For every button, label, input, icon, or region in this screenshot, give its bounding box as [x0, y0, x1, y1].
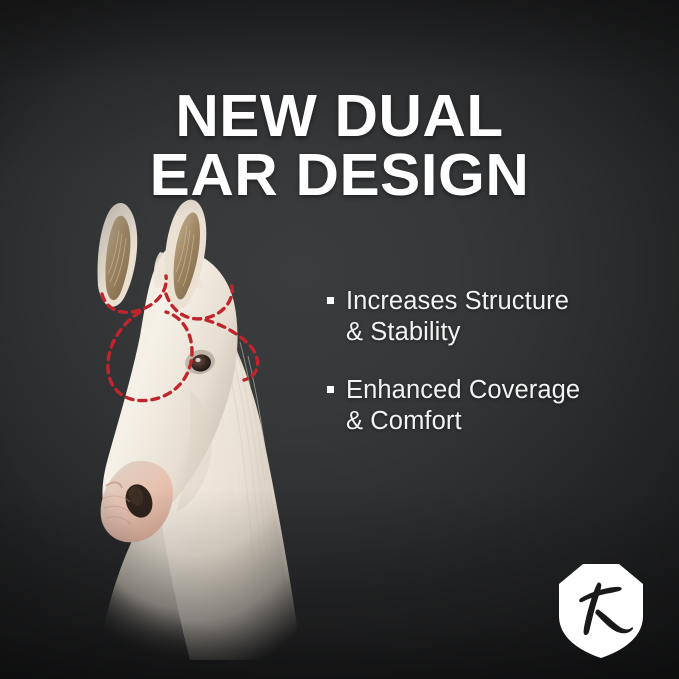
headline-line-1: NEW DUAL — [0, 88, 679, 146]
bullet-square-icon — [327, 297, 334, 304]
feature-text: Increases Structure & Stability — [346, 286, 647, 347]
headline: NEW DUAL EAR DESIGN — [0, 88, 679, 206]
feature-list: Increases Structure & Stability Enhanced… — [327, 286, 647, 436]
bullet-square-icon — [327, 386, 334, 393]
marketing-image: NEW DUAL EAR DESIGN Increases Structure … — [0, 0, 679, 679]
feature-line-2: & Stability — [346, 317, 647, 348]
feature-line-1: Increases Structure — [346, 286, 647, 317]
feature-line-2: & Comfort — [346, 406, 647, 437]
list-item: Increases Structure & Stability — [327, 286, 647, 347]
shield-icon — [559, 564, 643, 658]
brand-logo — [553, 558, 649, 662]
headline-line-2: EAR DESIGN — [0, 147, 679, 205]
feature-line-1: Enhanced Coverage — [346, 375, 647, 406]
list-item: Enhanced Coverage & Comfort — [327, 375, 647, 436]
feature-text: Enhanced Coverage & Comfort — [346, 375, 647, 436]
